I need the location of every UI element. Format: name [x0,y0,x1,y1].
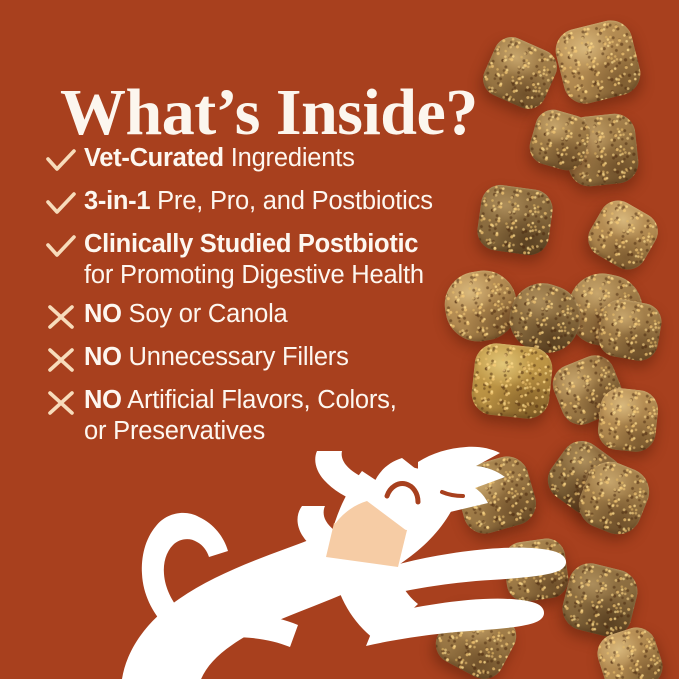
whats-inside-infographic: What’s Inside? Vet-Curated Ingredients3-… [0,0,679,679]
feature-text: NO Unnecessary Fillers [84,342,484,373]
feature-rest: Ingredients [224,144,355,172]
feature-text: 3-in-1 Pre, Pro, and Postbiotics [84,186,484,217]
feature-line-1: Vet-Curated Ingredients [84,143,484,174]
feature-row: NO Soy or Canola [44,299,484,334]
cross-icon [44,345,84,377]
feature-lead: 3-in-1 [84,187,150,215]
feature-line-1: NO Soy or Canola [84,299,484,330]
feature-lead: Vet-Curated [84,144,224,172]
content-layer: What’s Inside? Vet-Curated Ingredients3-… [0,0,679,679]
feature-rest: Artificial Flavors, Colors, [122,386,397,414]
feature-lead: NO [84,386,122,414]
feature-line-1: 3-in-1 Pre, Pro, and Postbiotics [84,186,484,217]
feature-text: Vet-Curated Ingredients [84,143,484,174]
feature-line-1: Clinically Studied Postbiotic [84,229,484,260]
feature-lead: NO [84,300,122,328]
feature-line-2: or Preservatives [84,416,484,447]
feature-list: Vet-Curated Ingredients3-in-1 Pre, Pro, … [44,143,484,454]
cross-icon [44,388,84,420]
feature-text: Clinically Studied Postbioticfor Promoti… [84,229,484,291]
cross-icon [44,302,84,334]
check-icon [44,232,84,264]
feature-row: NO Artificial Flavors, Colors,or Preserv… [44,385,484,447]
feature-row: Vet-Curated Ingredients [44,143,484,178]
feature-line-1: NO Unnecessary Fillers [84,342,484,373]
feature-row: Clinically Studied Postbioticfor Promoti… [44,229,484,291]
check-icon [44,146,84,178]
feature-text: NO Artificial Flavors, Colors,or Preserv… [84,385,484,447]
feature-line-2: for Promoting Digestive Health [84,260,484,291]
feature-row: 3-in-1 Pre, Pro, and Postbiotics [44,186,484,221]
feature-lead: Clinically Studied Postbiotic [84,230,418,258]
check-icon [44,189,84,221]
feature-rest: Pre, Pro, and Postbiotics [150,187,433,215]
page-title: What’s Inside? [60,80,478,146]
feature-rest: Soy or Canola [122,300,288,328]
feature-lead: NO [84,343,122,371]
feature-line-1: NO Artificial Flavors, Colors, [84,385,484,416]
feature-text: NO Soy or Canola [84,299,484,330]
feature-row: NO Unnecessary Fillers [44,342,484,377]
feature-rest: Unnecessary Fillers [122,343,349,371]
